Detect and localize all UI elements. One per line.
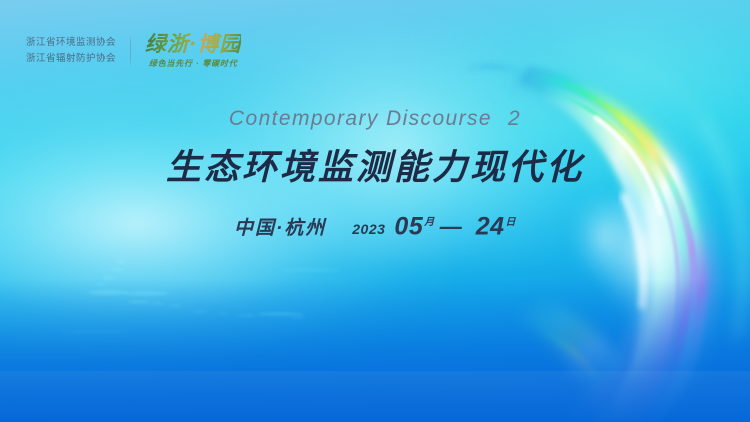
issue-number: 2 <box>508 107 521 130</box>
event-start-date: 05月 <box>394 210 434 239</box>
organizer-line-1: 浙江省环境监测协会 <box>26 36 116 49</box>
brand-logo: 绿浙·博园 绿色当先行 · 零碳时代 <box>145 32 241 69</box>
event-end-day: 24 <box>476 212 505 240</box>
organizer-names: 浙江省环境监测协会 浙江省辐射防护协会 <box>26 36 130 65</box>
event-year: 2023 <box>352 216 385 242</box>
logo-lockup: 浙江省环境监测协会 浙江省辐射防护协会 绿浙·博园 绿色当先行 · 零碳时代 <box>26 32 241 69</box>
kicker-text: Contemporary Discourse <box>229 107 492 130</box>
brand-tagline: 绿色当先行 · 零碳时代 <box>149 59 238 69</box>
event-start-unit: 月 <box>424 217 435 228</box>
event-location: 中国·杭州 <box>234 216 326 242</box>
logo-divider <box>130 34 131 68</box>
page-title: 生态环境监测能力现代化 <box>0 146 750 190</box>
event-meta: 中国·杭州 2023 05月 — 24日 <box>0 210 750 242</box>
brand-name: 绿浙·博园 <box>145 32 241 56</box>
event-date-dash: — <box>440 214 462 240</box>
organizer-line-2: 浙江省辐射防护协会 <box>26 52 116 65</box>
title-block: Contemporary Discourse2 生态环境监测能力现代化 中国·杭… <box>0 104 750 242</box>
conference-banner: 浙江省环境监测协会 浙江省辐射防护协会 绿浙·博园 绿色当先行 · 零碳时代 C… <box>0 0 750 422</box>
event-end-unit: 日 <box>506 217 517 228</box>
background-bottom-sheen <box>0 371 750 422</box>
kicker-line: Contemporary Discourse2 <box>0 104 750 134</box>
event-end-date: 24日 <box>476 210 516 239</box>
event-start-day: 05 <box>394 212 423 240</box>
